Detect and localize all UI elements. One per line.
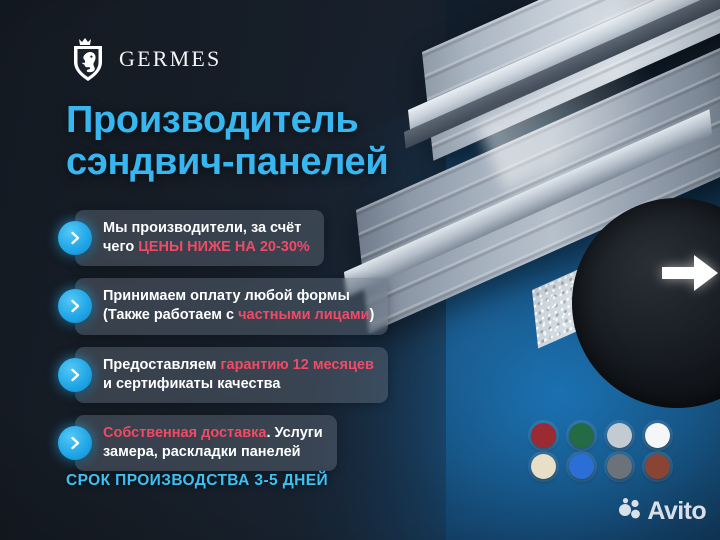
benefit-text: Собственная доставка. Услуги замера, рас…	[75, 415, 337, 471]
swatch-rust-brown[interactable]	[645, 454, 670, 479]
benefit-text: Мы производители, за счёт чего ЦЕНЫ НИЖЕ…	[75, 210, 324, 266]
benefit-1-highlight: ЦЕНЫ НИЖЕ НА 20-30%	[138, 239, 310, 255]
swatch-crimson-red[interactable]	[531, 423, 556, 448]
benefit-3-line2: и сертификаты качества	[103, 376, 280, 392]
swatch-dark-green[interactable]	[569, 423, 594, 448]
benefit-2-line1: Принимаем оплату любой формы	[103, 288, 350, 304]
chevron-right-icon	[58, 221, 92, 255]
brand-logo: GERMES	[68, 36, 221, 82]
benefit-4-line1-post: . Услуги	[266, 425, 322, 441]
production-time-note: СРОК ПРОИЗВОДСТВА 3-5 ДНЕЙ	[66, 472, 328, 490]
arrow-right-icon	[660, 250, 720, 296]
benefit-1-line1: Мы производители, за счёт	[103, 220, 301, 236]
avito-dots-icon	[617, 497, 641, 526]
benefit-2-line2-post: )	[369, 307, 374, 323]
benefits-list: Мы производители, за счёт чего ЦЕНЫ НИЖЕ…	[58, 210, 428, 483]
benefit-4-line2: замера, раскладки панелей	[103, 444, 301, 460]
list-item: Предоставляем гарантию 12 месяцев и серт…	[58, 347, 428, 403]
swatch-bright-blue[interactable]	[569, 454, 594, 479]
benefit-1-line2-pre: чего	[103, 239, 138, 255]
list-item: Собственная доставка. Услуги замера, рас…	[58, 415, 428, 471]
swatch-cream-beige[interactable]	[531, 454, 556, 479]
page-title: Производитель сэндвич-панелей	[66, 100, 486, 184]
color-swatch-grid	[524, 420, 676, 482]
benefit-text: Принимаем оплату любой формы (Также рабо…	[75, 278, 388, 334]
benefit-3-line1-pre: Предоставляем	[103, 357, 220, 373]
benefit-2-highlight: частными лицами	[238, 307, 369, 323]
list-item: Принимаем оплату любой формы (Также рабо…	[58, 278, 428, 334]
avito-watermark: Avito	[617, 497, 706, 526]
swatch-light-silver[interactable]	[607, 423, 632, 448]
avito-wordmark: Avito	[647, 497, 706, 526]
headline-line-1: Производитель	[66, 99, 358, 141]
benefit-3-highlight: гарантию 12 месяцев	[220, 357, 373, 373]
chevron-right-icon	[58, 358, 92, 392]
swatch-gray[interactable]	[607, 454, 632, 479]
headline-line-2: сэндвич-панелей	[66, 142, 486, 184]
benefit-text: Предоставляем гарантию 12 месяцев и серт…	[75, 347, 388, 403]
shield-lion-crown-icon	[68, 36, 108, 82]
benefit-4-highlight: Собственная доставка	[103, 425, 266, 441]
benefit-2-line2-pre: (Также работаем с	[103, 307, 238, 323]
advertisement-banner: GERMES Производитель сэндвич-панелей Мы …	[0, 0, 720, 540]
chevron-right-icon	[58, 426, 92, 460]
brand-name: GERMES	[119, 46, 221, 72]
swatch-white[interactable]	[645, 423, 670, 448]
list-item: Мы производители, за счёт чего ЦЕНЫ НИЖЕ…	[58, 210, 428, 266]
